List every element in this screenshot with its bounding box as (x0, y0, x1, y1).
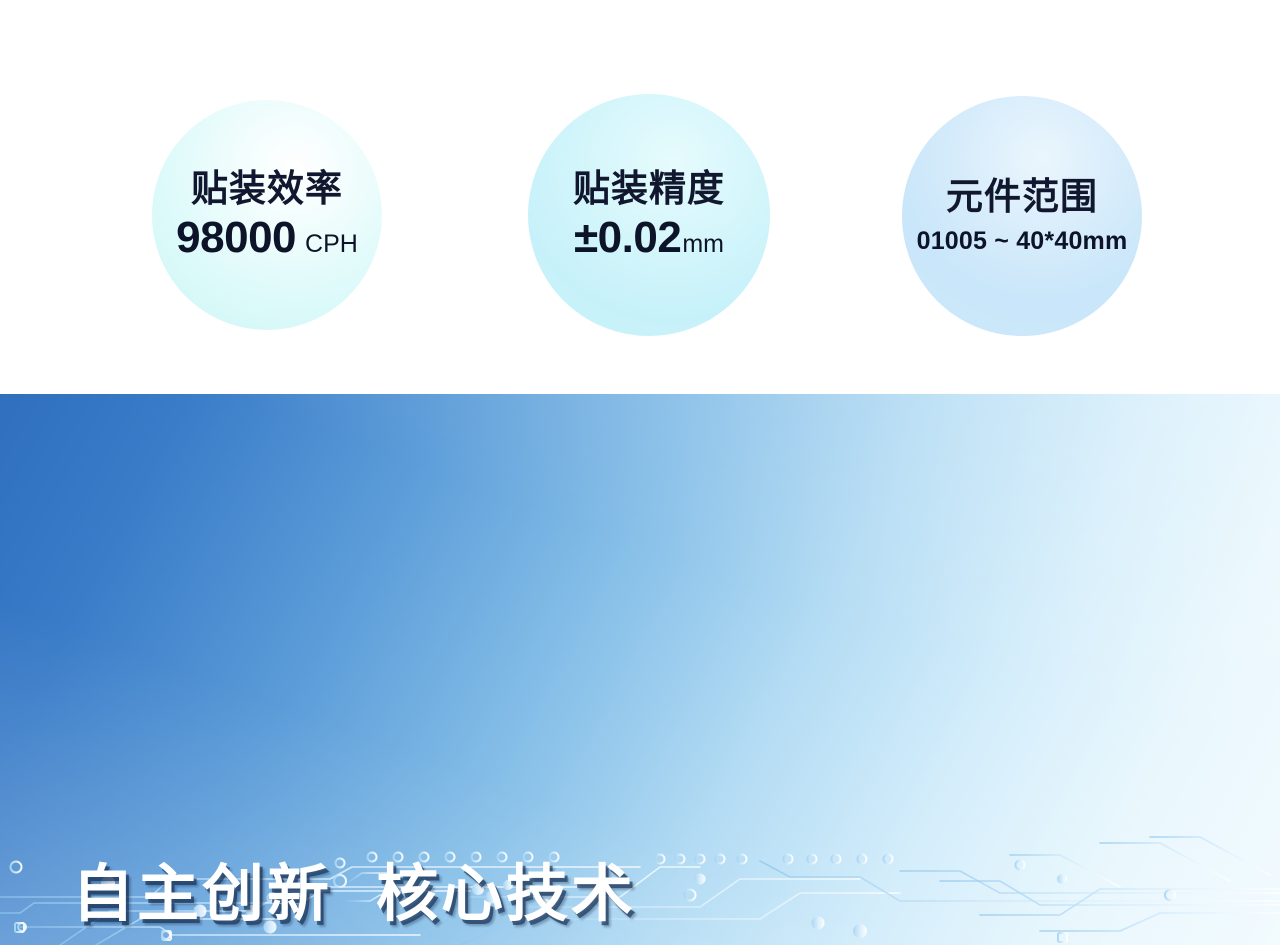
spec-unit: mm (682, 232, 724, 257)
spec-strip: 贴装效率 98000 CPH 贴装精度 ±0.02 mm 元件范围 01005 … (0, 0, 1280, 394)
spec-title: 元件范围 (946, 178, 1098, 215)
feature-panel: 自主创新核心技术 X、Y、Z三轴均采用自主研发高端磁悬浮电机驱动 Y轴采用双驱龙… (0, 394, 1280, 945)
headline-part-1: 自主创新 (72, 860, 332, 929)
headline-part-2: 核心技术 (376, 860, 636, 929)
spec-value-row: 01005 ~ 40*40mm (917, 229, 1128, 254)
spec-title: 贴装精度 (573, 170, 725, 207)
spec-value: ±0.02 (574, 216, 681, 260)
spec-bubble-placement-efficiency: 贴装效率 98000 CPH (152, 100, 382, 330)
spec-bubble-component-range: 元件范围 01005 ~ 40*40mm (902, 96, 1142, 336)
slide-root: 贴装效率 98000 CPH 贴装精度 ±0.02 mm 元件范围 01005 … (0, 0, 1280, 945)
spec-bubble-placement-accuracy: 贴装精度 ±0.02 mm (528, 94, 770, 336)
spec-value: 01005 ~ 40*40mm (917, 229, 1128, 254)
spec-value-row: 98000 CPH (176, 216, 358, 260)
spec-value-row: ±0.02 mm (574, 216, 724, 260)
spec-unit: CPH (305, 232, 358, 257)
page-title: 自主创新核心技术 (72, 864, 636, 926)
spec-value: 98000 (176, 216, 296, 260)
spec-title: 贴装效率 (191, 170, 343, 207)
